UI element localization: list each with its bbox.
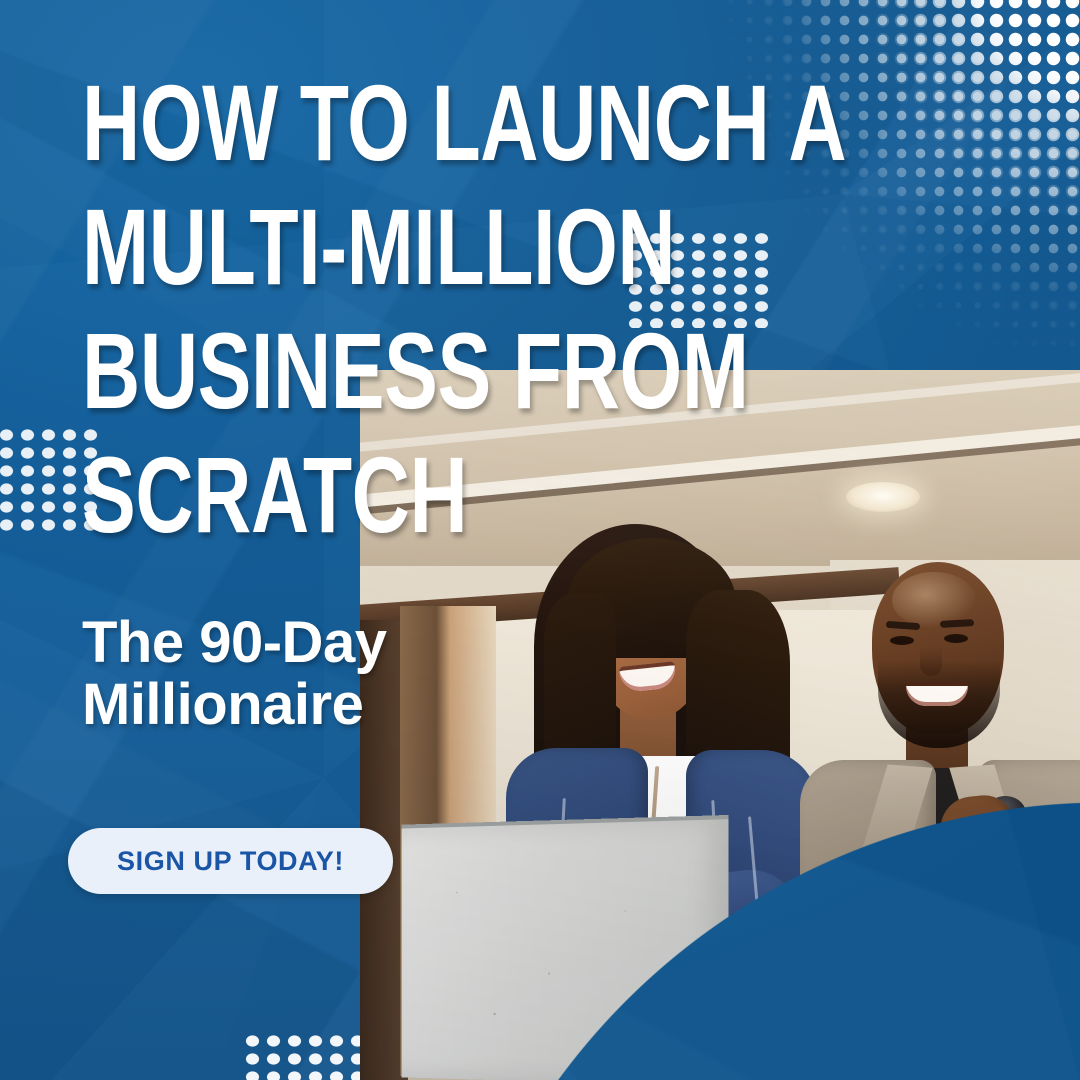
subtitle: The 90-Day Millionaire xyxy=(82,612,562,736)
headline-line-3: BUSINESS FROM xyxy=(82,303,670,442)
headline-line-1: HOW TO LAUNCH A xyxy=(82,55,670,194)
sign-up-today-button[interactable]: SIGN UP TODAY! xyxy=(68,828,393,894)
subtitle-line-2: Millionaire xyxy=(82,674,562,736)
content-layer: HOW TO LAUNCH A MULTI-MILLION BUSINESS F… xyxy=(0,0,1080,1080)
sign-up-today-label: SIGN UP TODAY! xyxy=(117,846,344,877)
page-title: HOW TO LAUNCH A MULTI-MILLION BUSINESS F… xyxy=(82,62,782,558)
headline-line-2: MULTI-MILLION xyxy=(82,179,670,318)
promo-poster: HOW TO LAUNCH A MULTI-MILLION BUSINESS F… xyxy=(0,0,1080,1080)
subtitle-line-1: The 90-Day xyxy=(82,612,562,674)
headline-line-4: SCRATCH xyxy=(82,427,670,566)
